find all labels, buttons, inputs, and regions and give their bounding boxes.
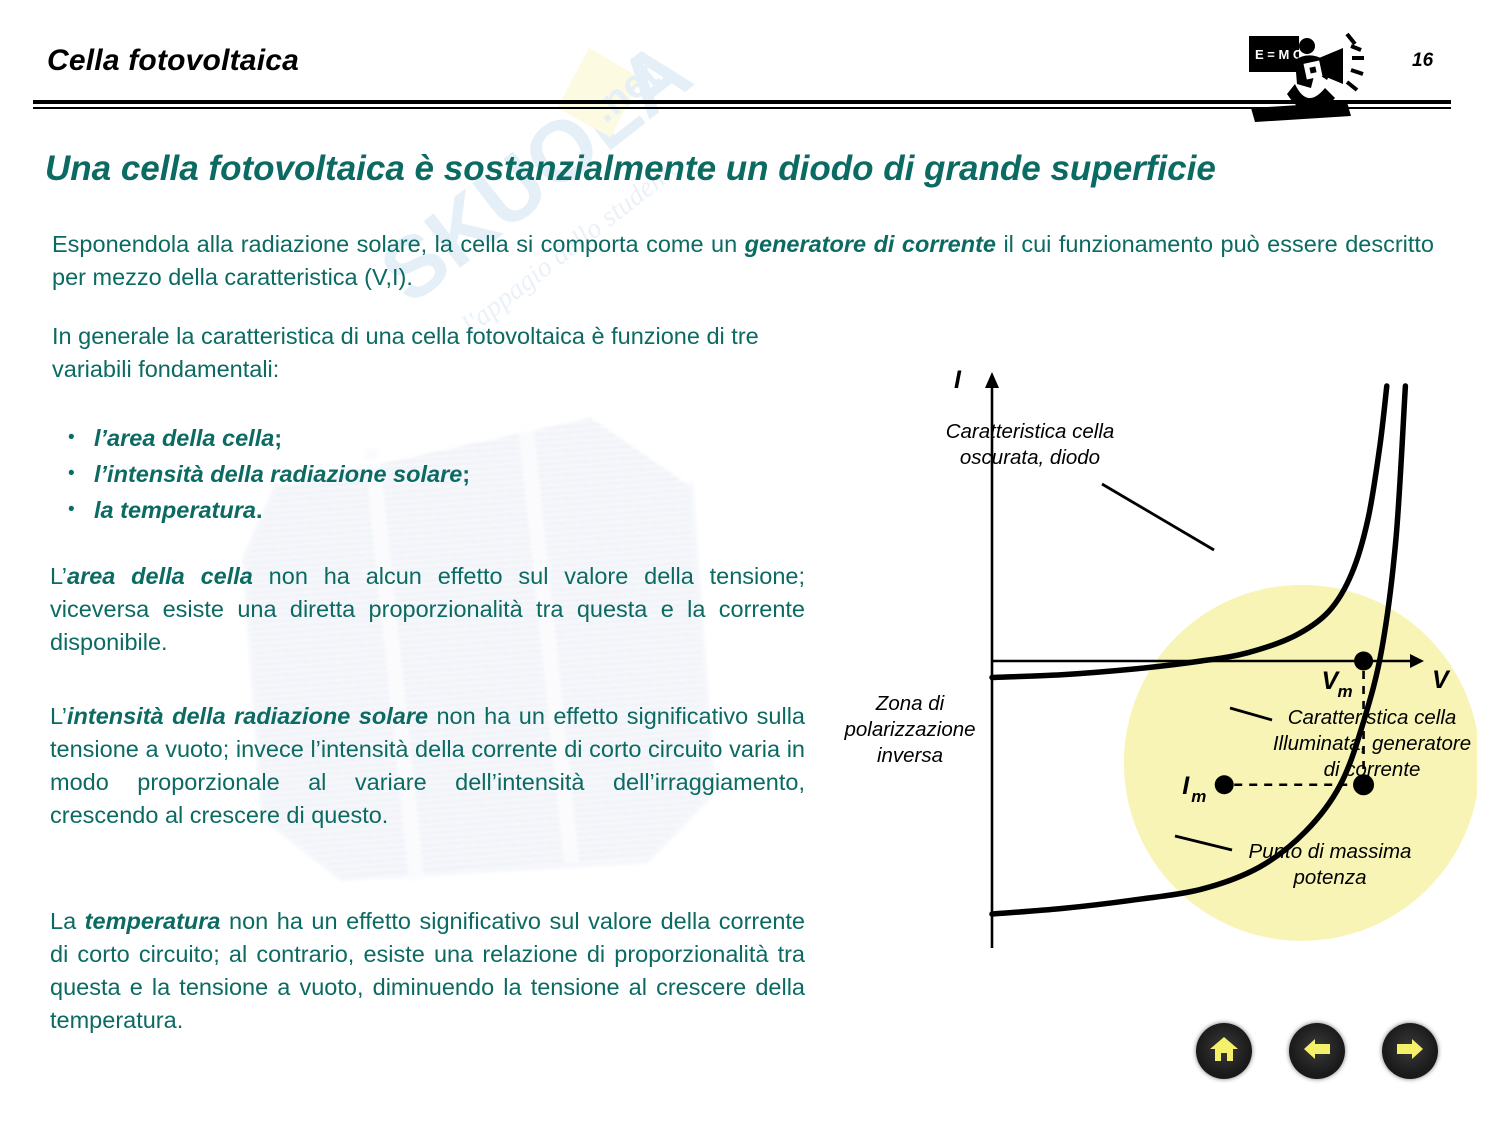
lead-paragraph: In generale la caratteristica di una cel… <box>52 320 812 386</box>
para1-pre: L’ <box>50 703 67 729</box>
list-item-label: l’area della cella; <box>94 420 282 456</box>
page-title: Cella fotovoltaica <box>47 44 299 78</box>
slide-navigation <box>1196 1023 1438 1079</box>
arrow-left-icon <box>1300 1032 1334 1071</box>
annotation-dark-cell: Caratteristica cella oscurata, diodo <box>946 420 1115 469</box>
svg-text:di corrente: di corrente <box>1324 758 1421 781</box>
x-axis-label: V <box>1432 666 1451 694</box>
iv-characteristic-chart: I V V m I m Caratteristica cella oscurat… <box>832 358 1477 948</box>
leader-dark-curve <box>1102 484 1214 550</box>
list-item-label: la temperatura. <box>94 492 262 528</box>
y-axis-arrow-icon <box>985 372 999 388</box>
bullet-tail-2: . <box>256 497 263 523</box>
bullet-marker: • <box>68 492 94 528</box>
variables-list: • l’area della cella; • l’intensità dell… <box>68 420 470 528</box>
marker-vm <box>1354 652 1373 671</box>
svg-text:potenza: potenza <box>1293 866 1367 889</box>
bullet-tail-1: ; <box>462 461 470 487</box>
bullet-text-1: l’intensità della radiazione solare <box>94 461 462 487</box>
svg-text:polarizzazione: polarizzazione <box>843 718 975 741</box>
bullet-text-2: la temperatura <box>94 497 256 523</box>
svg-text:Zona di: Zona di <box>875 692 946 715</box>
svg-text:oscurata, diodo: oscurata, diodo <box>960 446 1100 469</box>
bullet-text-0: l’area della cella <box>94 425 274 451</box>
list-item-label: l’intensità della radiazione solare; <box>94 456 470 492</box>
svg-text:Illuminata, generatore: Illuminata, generatore <box>1273 732 1471 755</box>
annotation-reverse-bias: Zona di polarizzazione inversa <box>843 692 975 767</box>
svg-text:m: m <box>1338 682 1353 701</box>
list-item: • la temperatura. <box>68 492 470 528</box>
list-item: • l’intensità della radiazione solare; <box>68 456 470 492</box>
intro-strong: generatore di corrente <box>745 231 996 257</box>
home-button[interactable] <box>1196 1023 1252 1079</box>
arrow-right-icon <box>1393 1032 1427 1071</box>
watermark-diamond-icon <box>540 34 658 152</box>
svg-text:Caratteristica cella: Caratteristica cella <box>1288 706 1457 729</box>
svg-text:m: m <box>1191 787 1206 806</box>
list-item: • l’area della cella; <box>68 420 470 456</box>
para0-pre: L’ <box>50 563 67 589</box>
marker-im <box>1215 775 1234 794</box>
svg-text:inversa: inversa <box>877 744 943 767</box>
bullet-marker: • <box>68 456 94 492</box>
y-axis-label: I <box>954 366 962 394</box>
bullet-tail-0: ; <box>274 425 282 451</box>
intro-paragraph: Esponendola alla radiazione solare, la c… <box>52 228 1434 294</box>
intro-pre: Esponendola alla radiazione solare, la c… <box>52 231 745 257</box>
previous-button[interactable] <box>1289 1023 1345 1079</box>
svg-text:Caratteristica cella: Caratteristica cella <box>946 420 1115 443</box>
watermark-domain: .net <box>584 53 667 131</box>
paragraph-temperature: La temperatura non ha un effetto signifi… <box>50 905 805 1037</box>
para2-strong: temperatura <box>85 908 221 934</box>
page-number: 16 <box>1412 50 1433 72</box>
para0-strong: area della cella <box>67 563 253 589</box>
bullet-marker: • <box>68 420 94 456</box>
paragraph-irradiance: L’intensità della radiazione solare non … <box>50 700 805 832</box>
svg-text:I: I <box>1182 772 1190 800</box>
next-button[interactable] <box>1382 1023 1438 1079</box>
lecturer-blackboard-emc2-icon: E = M C² <box>1247 28 1367 128</box>
para2-pre: La <box>50 908 85 934</box>
home-icon <box>1207 1032 1241 1071</box>
site-watermark: SKUOLA .net l'appagio dello studente <box>330 10 750 370</box>
para1-strong: intensità della radiazione solare <box>67 703 428 729</box>
svg-text:Punto di massima: Punto di massima <box>1249 840 1412 863</box>
header-divider <box>33 100 1451 110</box>
slide-subtitle: Una cella fotovoltaica è sostanzialmente… <box>45 150 1445 189</box>
paragraph-area: L’area della cella non ha alcun effetto … <box>50 560 805 659</box>
